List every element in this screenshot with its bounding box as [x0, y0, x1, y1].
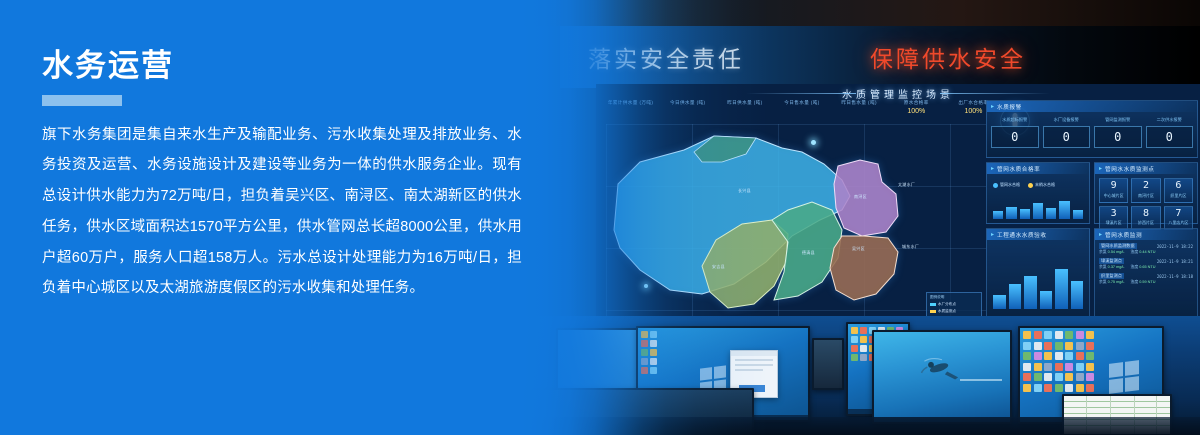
body-paragraph: 旗下水务集团是集自来水生产及输配业务、污水收集处理及排放业务、水务投资及运营、水… — [42, 120, 522, 304]
page-title: 水务运营 — [42, 48, 522, 84]
title-underline-bar — [42, 95, 122, 106]
text-content-block: 水务运营 旗下水务集团是集自来水生产及输配业务、污水收集处理及排放业务、水务投资… — [42, 48, 522, 304]
hero-banner-section: 落实安全责任 保障供水安全 水质管理监控场景 年累计供水量 (万吨) 今日供水量… — [0, 0, 1200, 435]
